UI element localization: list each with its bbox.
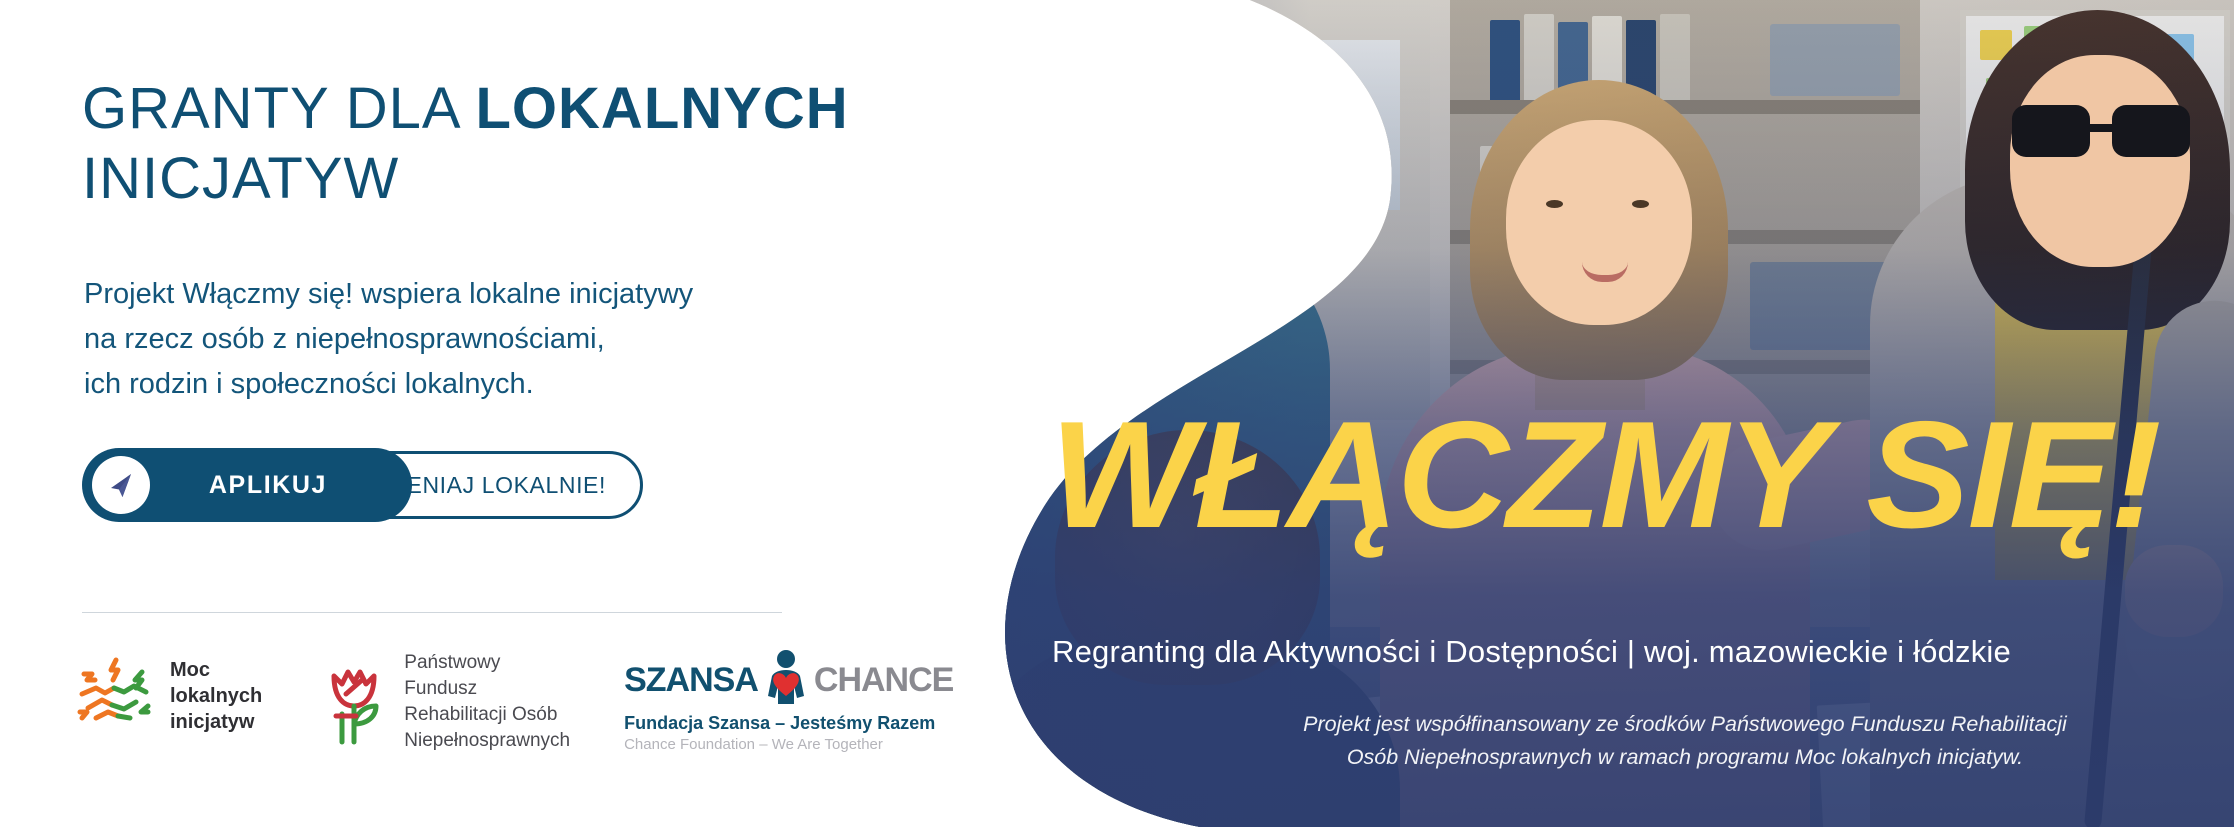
headline-line-2: INICJATYW (82, 146, 399, 211)
divider (82, 612, 782, 613)
red-tulip-icon (316, 654, 392, 751)
partner-logos: Moc lokalnych inicjatyw (72, 650, 953, 754)
lead-line-2: na rzecz osób z niepełnosprawnościami, (84, 323, 605, 355)
logo-moc-line-3: inicjatyw (170, 711, 254, 733)
headline-normal: GRANTY DLA (82, 76, 476, 141)
left-content-panel: GRANTY DLA LOKALNYCH INICJATYW Projekt W… (0, 0, 950, 827)
navigation-arrow-icon (92, 456, 150, 514)
lead-line-3: ich rodzin i społeczności lokalnych. (84, 368, 534, 400)
logo-fundacja-szansa: SZANSA CHANCE Fundacja Szansa – Jesteśmy… (624, 650, 953, 753)
footnote-line-1: Projekt jest współfinansowany ze środków… (1303, 712, 2067, 736)
szansa-word-left: SZANSA (624, 661, 758, 700)
handshake-with-sparks-icon (72, 650, 158, 741)
page-title: GRANTY DLA LOKALNYCH INICJATYW (82, 74, 872, 214)
logo-pfron-line-1: Państwowy Fundusz (404, 652, 500, 699)
szansa-wordmark: SZANSA CHANCE (624, 650, 953, 711)
logo-moc-line-1: Moc (170, 659, 210, 681)
logo-moc-line-2: lokalnych (170, 685, 262, 707)
lead-line-1: Projekt Włączmy się! wspiera lokalne ini… (84, 278, 693, 310)
person-with-heart-icon (760, 650, 812, 711)
logo-moc-lokalnych-inicjatyw: Moc lokalnych inicjatyw (72, 650, 262, 741)
logo-pfron-line-2: Rehabilitacji Osób (404, 704, 557, 725)
logo-moc-label: Moc lokalnych inicjatyw (170, 657, 262, 735)
szansa-word-right: CHANCE (814, 661, 953, 700)
logo-pfron-line-3: Niepełnosprawnych (404, 730, 570, 751)
szansa-tagline-en: Chance Foundation – We Are Together (624, 736, 883, 753)
szansa-tagline-pl: Fundacja Szansa – Jesteśmy Razem (624, 713, 935, 734)
logo-pfron-label: Państwowy Fundusz Rehabilitacji Osób Nie… (404, 650, 570, 754)
hero-footnote: Projekt jest współfinansowany ze środków… (1150, 708, 2220, 774)
hero-subtitle: Regranting dla Aktywności i Dostępności … (1052, 634, 2222, 670)
headline-bold: LOKALNYCH (476, 76, 849, 141)
logo-pfron: Państwowy Fundusz Rehabilitacji Osób Nie… (316, 650, 570, 754)
apply-button[interactable]: APLIKUJ (82, 448, 412, 522)
promo-banner: WŁĄCZMY SIĘ! Regranting dla Aktywności i… (0, 0, 2234, 827)
footnote-line-2: Osób Niepełnosprawnych w ramach programu… (1347, 745, 2023, 769)
apply-button-label: APLIKUJ (150, 471, 412, 500)
lead-paragraph: Projekt Włączmy się! wspiera lokalne ini… (84, 272, 784, 407)
hero-title: WŁĄCZMY SIĘ! (1050, 400, 2234, 550)
